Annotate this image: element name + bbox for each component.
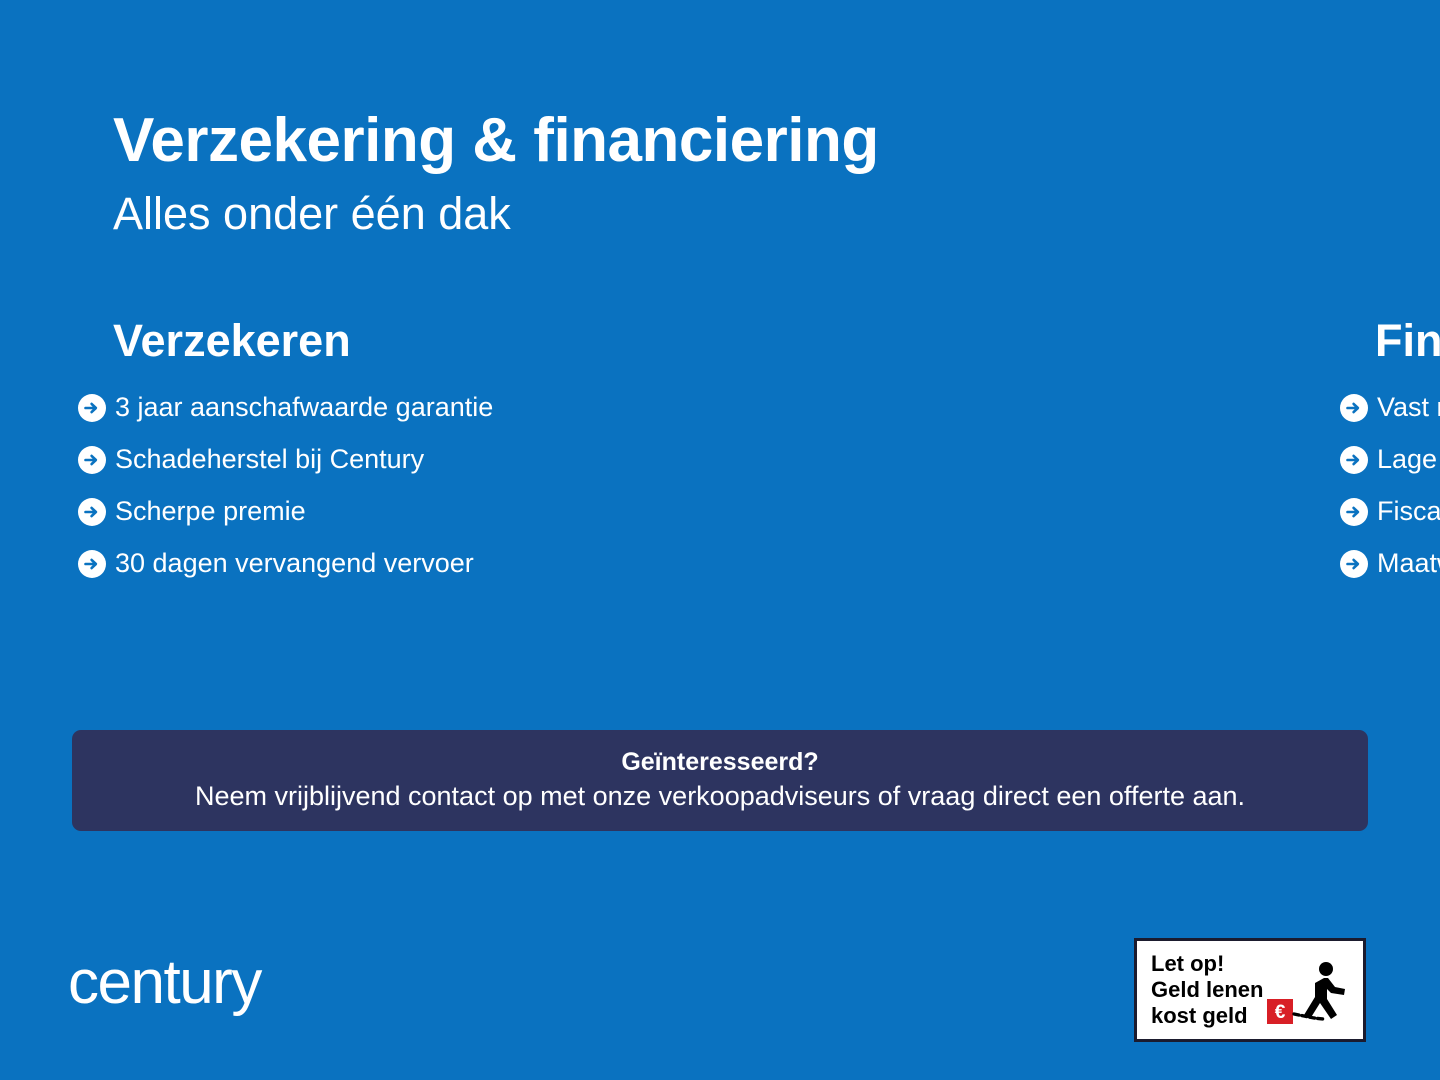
- list-item-label: Schadeherstel bij Century: [115, 446, 424, 473]
- list-item: Fiscale voordelen: [1340, 486, 1440, 538]
- warning-text-block: Let op! Geld lenen kost geld: [1151, 951, 1263, 1029]
- warning-line-1: Let op!: [1151, 951, 1263, 977]
- column-heading-financieren: Financieren: [1340, 316, 1440, 366]
- slide-root: Verzekering & financiering Alles onder é…: [0, 0, 1440, 1080]
- credit-warning-label: Let op! Geld lenen kost geld €: [1134, 938, 1366, 1042]
- column-verzekeren: Verzekeren 3 jaar aanschafwaarde garanti…: [0, 316, 630, 590]
- page-subtitle: Alles onder één dak: [113, 189, 1313, 239]
- slide-header: Verzekering & financiering Alles onder é…: [113, 108, 1313, 239]
- walking-person-with-euro-ball-and-chain-icon: €: [1265, 959, 1357, 1033]
- page-title: Verzekering & financiering: [113, 108, 1313, 173]
- list-item-label: Vast maandbedrag, looptijd en rente: [1377, 394, 1440, 421]
- list-item-label: Lage maandlasten door hoge restwaarde: [1377, 446, 1440, 473]
- list-item: 30 dagen vervangend vervoer: [78, 538, 630, 590]
- list-item-label: 30 dagen vervangend vervoer: [115, 550, 474, 577]
- list-item: Lage maandlasten door hoge restwaarde: [1340, 434, 1440, 486]
- column-financieren: Financieren Vast maandbedrag, looptijd e…: [630, 316, 1440, 590]
- cta-heading: Geïnteresseerd?: [621, 749, 818, 777]
- list-item-label: Fiscale voordelen: [1377, 498, 1440, 525]
- feature-list-financieren: Vast maandbedrag, looptijd en rente Lage…: [1340, 382, 1440, 590]
- arrow-right-circle-icon: [1340, 550, 1368, 578]
- list-item: Vast maandbedrag, looptijd en rente: [1340, 382, 1440, 434]
- arrow-right-circle-icon: [78, 446, 106, 474]
- svg-text:€: €: [1275, 1002, 1286, 1023]
- warning-line-3: kost geld: [1151, 1003, 1263, 1029]
- list-item-label: 3 jaar aanschafwaarde garantie: [115, 394, 493, 421]
- arrow-right-circle-icon: [78, 498, 106, 526]
- arrow-right-circle-icon: [1340, 446, 1368, 474]
- list-item: Schadeherstel bij Century: [78, 434, 630, 486]
- feature-columns: Verzekeren 3 jaar aanschafwaarde garanti…: [0, 316, 1440, 590]
- arrow-right-circle-icon: [1340, 394, 1368, 422]
- list-item: 3 jaar aanschafwaarde garantie: [78, 382, 630, 434]
- list-item: Scherpe premie: [78, 486, 630, 538]
- warning-line-2: Geld lenen: [1151, 977, 1263, 1003]
- arrow-right-circle-icon: [78, 394, 106, 422]
- column-heading-verzekeren: Verzekeren: [78, 316, 630, 366]
- feature-list-verzekeren: 3 jaar aanschafwaarde garantie Schadeher…: [78, 382, 630, 590]
- arrow-right-circle-icon: [1340, 498, 1368, 526]
- list-item-label: Maatwerk en advies van onze experts: [1377, 550, 1440, 577]
- list-item: Maatwerk en advies van onze experts: [1340, 538, 1440, 590]
- arrow-right-circle-icon: [78, 550, 106, 578]
- list-item-label: Scherpe premie: [115, 498, 306, 525]
- cta-banner: Geïnteresseerd? Neem vrijblijvend contac…: [72, 730, 1368, 831]
- cta-body: Neem vrijblijvend contact op met onze ve…: [195, 782, 1245, 812]
- century-logo: century: [68, 952, 261, 1014]
